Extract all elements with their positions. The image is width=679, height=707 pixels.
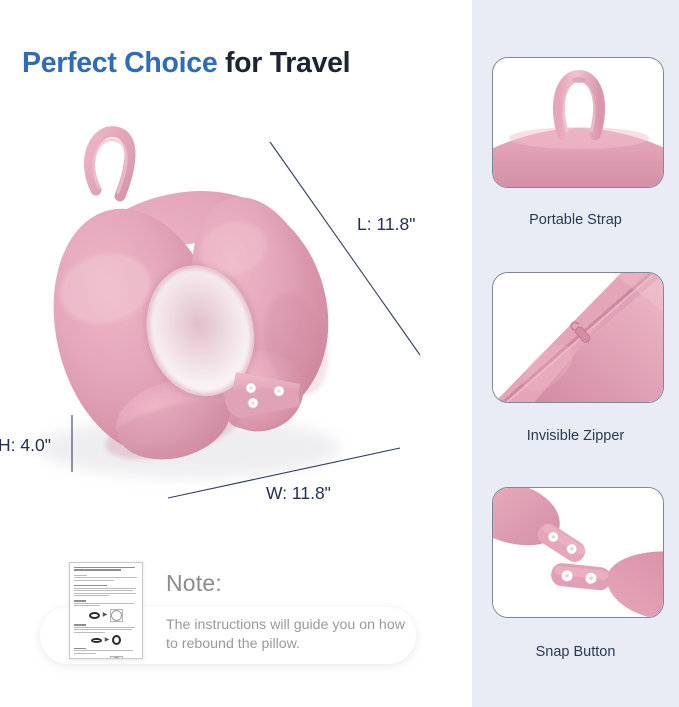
title-accent-text: Perfect Choice: [22, 47, 217, 79]
page-title: Perfect Choice for Travel: [22, 47, 350, 80]
leaflet-heading-lines: [74, 567, 138, 571]
compressed-pillow-icon: [91, 638, 102, 643]
note-title: Note:: [166, 570, 222, 597]
leaflet-step-1-text: [74, 600, 138, 606]
leaflet-step-2-diagram: ▶: [74, 635, 138, 645]
note-body: The instructions will guide you on how t…: [166, 616, 411, 654]
feature-panel-snap-button: [492, 487, 664, 618]
arrow-right-icon: ▶: [103, 612, 108, 618]
feature-label-invisible-zipper: Invisible Zipper: [472, 428, 679, 444]
hero-product-image: [0, 100, 470, 530]
instruction-leaflet-thumbnail: ▶ ▶ ▶: [69, 562, 143, 659]
strap-loop: [89, 132, 130, 196]
dimension-label-length: L: 11.8": [357, 214, 415, 235]
title-rest-text: for Travel: [217, 47, 350, 79]
box-icon: [110, 656, 123, 659]
product-infographic: Perfect Choice for Travel: [0, 0, 679, 707]
leaflet-paragraph-2: [74, 585, 138, 596]
feature-label-snap-button: Snap Button: [472, 644, 679, 660]
leaflet-paragraph-1: [74, 575, 138, 581]
feature-panel-invisible-zipper: [492, 272, 664, 403]
feature-label-portable-strap: Portable Strap: [472, 212, 679, 228]
box-icon: [110, 609, 123, 622]
dimension-label-width: W: 11.8": [266, 483, 331, 504]
arrow-right-icon: ▶: [105, 637, 110, 643]
leaflet-step-3-text: [74, 648, 138, 654]
flat-pillow-icon: [89, 612, 100, 619]
dimension-label-height: H: 4.0": [0, 435, 51, 456]
leaflet-step-1-diagram: ▶: [74, 609, 138, 622]
feature-panel-portable-strap: [492, 57, 664, 188]
leaflet-step-3-diagram: ▶: [74, 656, 138, 659]
expanded-pillow-icon: [112, 635, 121, 645]
leaflet-step-2-text: [74, 624, 138, 632]
